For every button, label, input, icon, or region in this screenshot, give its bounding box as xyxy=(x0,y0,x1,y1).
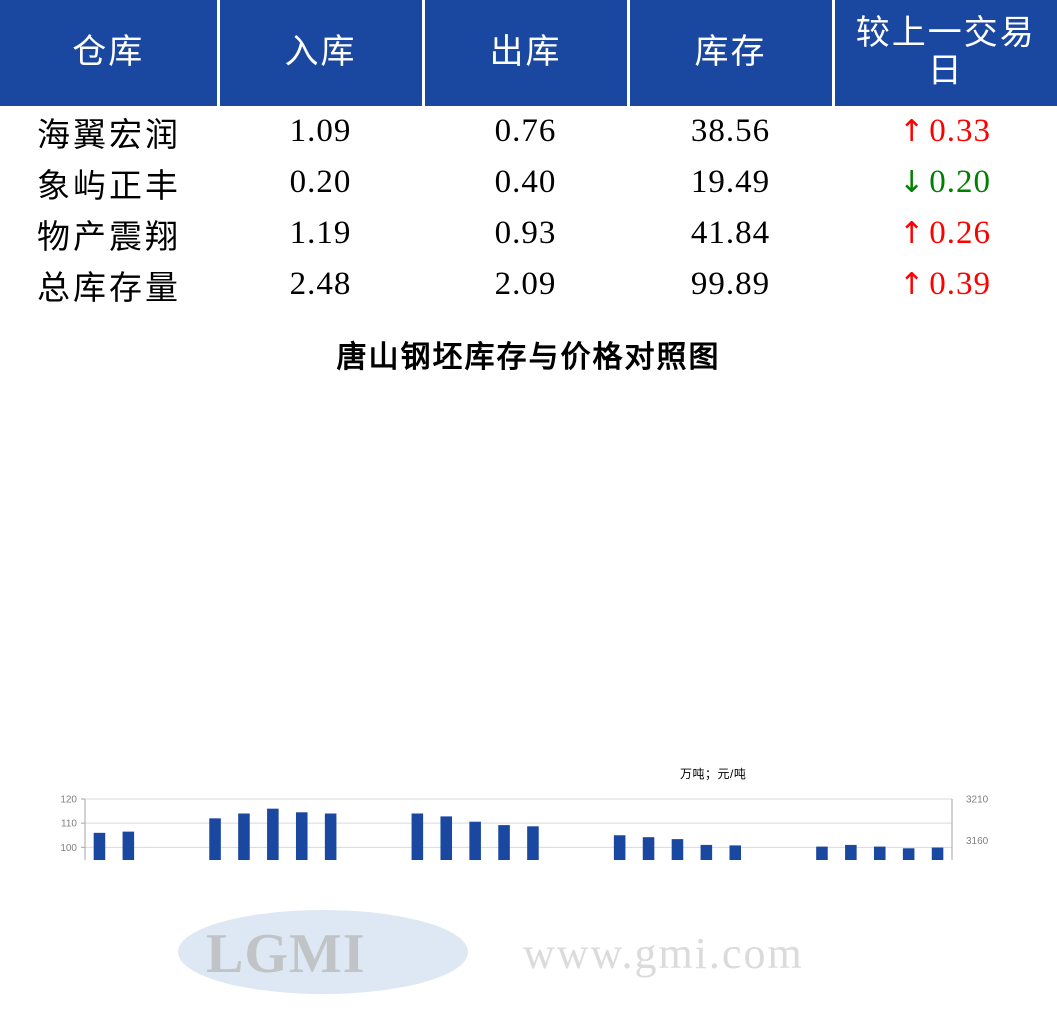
chart-block: 唐山钢坯库存与价格对照图 万吨；元/吨 LGMI www.gmi.com 010… xyxy=(0,310,1057,860)
cell-warehouse-name: 象屿正丰 xyxy=(0,157,218,208)
table-header: 仓库 入库 出库 库存 较上一交易日 xyxy=(0,0,1057,106)
watermark-ellipse xyxy=(178,910,468,994)
cell-stock: 19.49 xyxy=(628,157,833,208)
table-row: 象屿正丰 0.20 0.40 19.49 ↓0.20 xyxy=(0,157,1057,208)
col-header-inbound: 入库 xyxy=(218,0,423,106)
status-badge-change: ↓0.20 xyxy=(899,164,991,200)
cell-outbound: 2.09 xyxy=(423,259,628,310)
warehouse-stock-table: 仓库 入库 出库 库存 较上一交易日 海翼宏润 1.09 0.76 38.56 … xyxy=(0,0,1057,310)
watermark-url-text: www.gmi.com xyxy=(523,928,804,979)
col-header-change: 较上一交易日 xyxy=(833,0,1057,106)
col-header-outbound: 出库 xyxy=(423,0,628,106)
cell-inbound: 1.19 xyxy=(218,208,423,259)
watermark: LGMI www.gmi.com xyxy=(178,900,858,1010)
table-header-row: 仓库 入库 出库 库存 较上一交易日 xyxy=(0,0,1057,106)
cell-change: ↑0.39 xyxy=(833,259,1057,310)
watermark-logo-text: LGMI xyxy=(206,922,366,986)
table-row: 总库存量 2.48 2.09 99.89 ↑0.39 xyxy=(0,259,1057,310)
status-badge-change: ↑0.26 xyxy=(899,215,991,251)
svg-text:110: 110 xyxy=(61,819,77,830)
arrow-up-icon: ↑ xyxy=(899,114,929,149)
inventory-price-chart: 0102030405060708090100110120 28602910296… xyxy=(0,310,1057,860)
cell-outbound: 0.93 xyxy=(423,208,628,259)
cell-outbound: 0.40 xyxy=(423,157,628,208)
arrow-up-icon: ↑ xyxy=(899,267,929,302)
cell-stock: 99.89 xyxy=(628,259,833,310)
cell-warehouse-name: 海翼宏润 xyxy=(0,106,218,157)
cell-stock: 41.84 xyxy=(628,208,833,259)
cell-change: ↑0.33 xyxy=(833,106,1057,157)
cell-inbound: 1.09 xyxy=(218,106,423,157)
chart-bars xyxy=(94,809,944,860)
cell-inbound: 0.20 xyxy=(218,157,423,208)
cell-warehouse-name: 物产震翔 xyxy=(0,208,218,259)
chart-y-axis-labels: 0102030405060708090100110120 xyxy=(60,795,77,861)
chart-y2-axis-labels: 28602910296030103060311031603210 xyxy=(966,795,989,861)
status-badge-change: ↑0.33 xyxy=(899,113,991,149)
change-value: 0.33 xyxy=(929,113,991,149)
table-row: 物产震翔 1.19 0.93 41.84 ↑0.26 xyxy=(0,208,1057,259)
change-value: 0.39 xyxy=(929,266,991,302)
cell-change: ↑0.26 xyxy=(833,208,1057,259)
svg-text:3160: 3160 xyxy=(966,836,989,847)
cell-inbound: 2.48 xyxy=(218,259,423,310)
svg-text:3210: 3210 xyxy=(966,795,989,806)
arrow-up-icon: ↑ xyxy=(899,216,929,251)
table-body: 海翼宏润 1.09 0.76 38.56 ↑0.33 象屿正丰 0.20 0.4… xyxy=(0,106,1057,310)
cell-change: ↓0.20 xyxy=(833,157,1057,208)
cell-stock: 38.56 xyxy=(628,106,833,157)
svg-text:120: 120 xyxy=(60,795,77,806)
cell-outbound: 0.76 xyxy=(423,106,628,157)
arrow-down-icon: ↓ xyxy=(899,165,929,200)
cell-warehouse-name: 总库存量 xyxy=(0,259,218,310)
svg-text:100: 100 xyxy=(60,843,77,854)
change-value: 0.20 xyxy=(929,164,991,200)
col-header-warehouse: 仓库 xyxy=(0,0,218,106)
change-value: 0.26 xyxy=(929,215,991,251)
col-header-stock: 库存 xyxy=(628,0,833,106)
table-row: 海翼宏润 1.09 0.76 38.56 ↑0.33 xyxy=(0,106,1057,157)
status-badge-change: ↑0.39 xyxy=(899,266,991,302)
